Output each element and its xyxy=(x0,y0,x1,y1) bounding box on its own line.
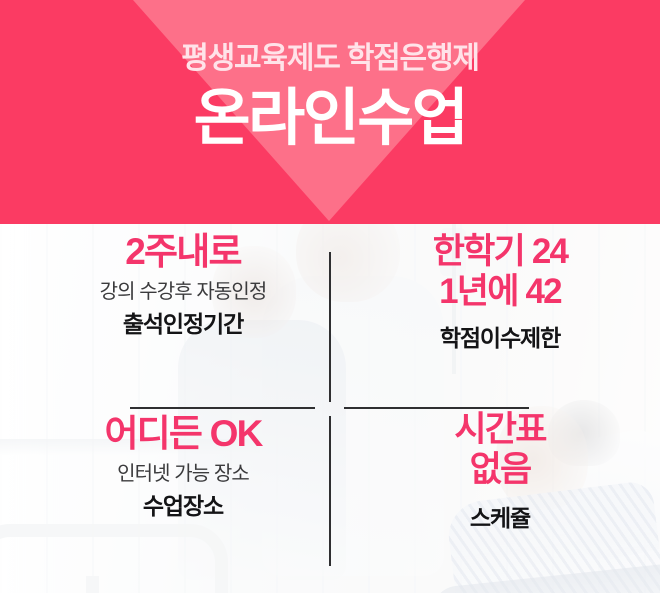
divider-vertical-top xyxy=(329,252,331,402)
feature-label: 출석인정기간 xyxy=(58,312,308,337)
feature-item-credit-limit: 한학기 24 1년에 42 학점이수제한 xyxy=(332,232,650,407)
feature-headline: 2주내로 xyxy=(58,232,308,272)
feature-item-schedule: 시간표 없음 스케쥴 xyxy=(332,410,650,585)
feature-headline: 어디든 OK xyxy=(58,414,308,454)
feature-subline: 강의 수강후 자동인정 xyxy=(58,281,308,303)
divider-vertical-bottom xyxy=(329,416,331,566)
online-class-promo-banner: 평생교육제도 학점은행제 온라인수업 2주내로 강의 수강 xyxy=(0,0,660,593)
feature-subline: 인터넷 가능 장소 xyxy=(58,463,308,485)
feature-item-attendance-period: 2주내로 강의 수강후 자동인정 출석인정기간 xyxy=(0,232,318,407)
feature-headline: 한학기 24 xyxy=(375,232,625,272)
feature-label: 학점이수제한 xyxy=(375,326,625,351)
header-title: 온라인수업 xyxy=(194,86,467,151)
feature-item-class-location: 어디든 OK 인터넷 가능 장소 수업장소 xyxy=(0,414,318,589)
divider-horizontal-right xyxy=(344,407,529,409)
banner-header: 평생교육제도 학점은행제 온라인수업 xyxy=(0,0,660,224)
header-text-group: 평생교육제도 학점은행제 온라인수업 xyxy=(0,0,660,224)
header-subtitle: 평생교육제도 학점은행제 xyxy=(181,44,479,74)
feature-headline: 시간표 xyxy=(375,410,625,450)
feature-label: 스케쥴 xyxy=(375,506,625,531)
feature-grid: 2주내로 강의 수강후 자동인정 출석인정기간 한학기 24 1년에 42 학점… xyxy=(0,224,660,593)
feature-headline-line2: 없음 xyxy=(375,450,625,490)
divider-horizontal-left xyxy=(130,407,315,409)
feature-headline-line2: 1년에 42 xyxy=(375,272,625,312)
feature-label: 수업장소 xyxy=(58,494,308,519)
